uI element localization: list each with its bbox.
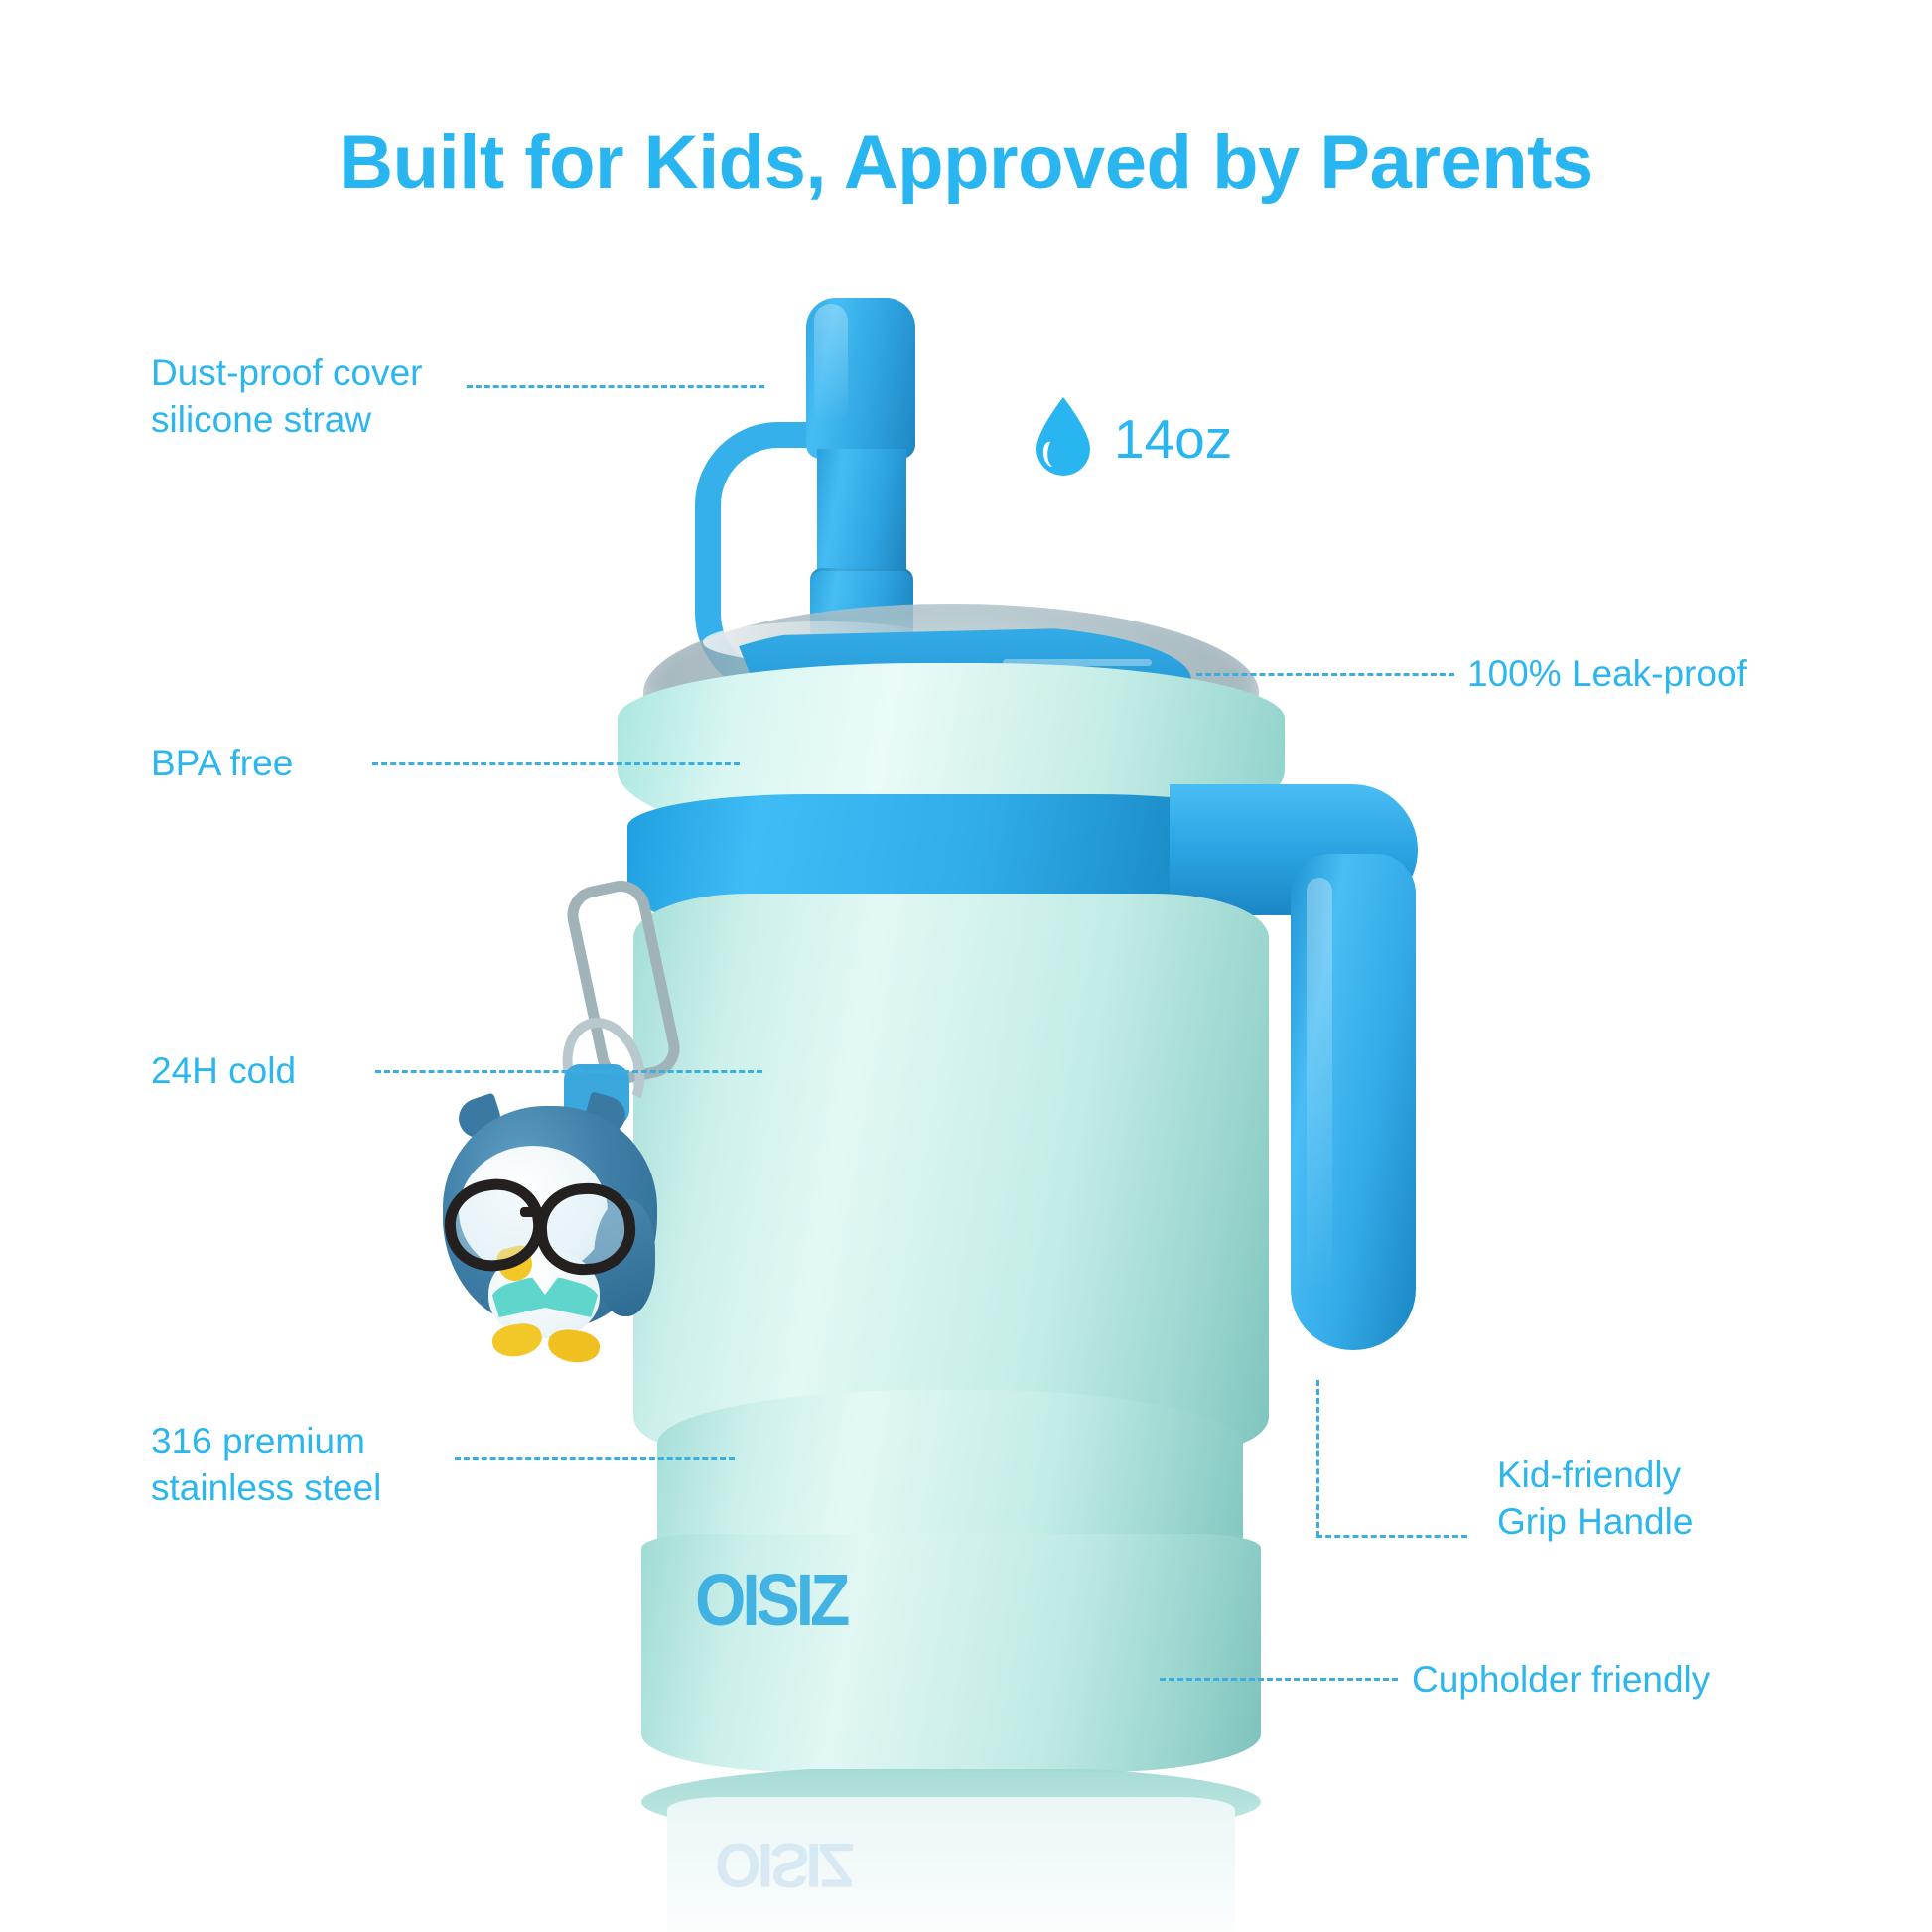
callout-bpa-free-line1: BPA free — [151, 743, 293, 783]
callout-24h-cold-line1: 24H cold — [151, 1050, 296, 1091]
callout-bpa-free: BPA free — [151, 740, 293, 786]
leader-24h-cold — [375, 1070, 762, 1073]
callout-dust-proof-cover-line2: silicone straw — [151, 399, 371, 440]
leader-316-stainless — [455, 1457, 735, 1460]
callout-dust-proof-cover-line1: Dust-proof cover — [151, 352, 423, 393]
callout-24h-cold: 24H cold — [151, 1047, 296, 1094]
infographic-canvas: Built for Kids, Approved by Parents 14oz — [0, 0, 1932, 1932]
callout-316-stainless-line2: stainless steel — [151, 1467, 381, 1508]
tumbler-body — [633, 894, 1269, 1449]
callout-grip-handle: Kid-friendlyGrip Handle — [1497, 1451, 1693, 1546]
leader-dust-proof-cover — [467, 385, 764, 388]
dust-proof-straw-cap — [806, 298, 915, 459]
leader-cupholder — [1160, 1678, 1398, 1681]
owl-foot-right — [546, 1327, 602, 1366]
callout-cupholder-line1: Cupholder friendly — [1412, 1659, 1710, 1700]
product-reflection: OISIZ — [641, 1769, 1261, 1932]
owl-glasses-icon — [445, 1177, 629, 1251]
brand-logo: OISIZ — [695, 1563, 846, 1636]
callout-316-stainless: 316 premiumstainless steel — [151, 1418, 381, 1512]
callout-leak-proof: 100% Leak-proof — [1467, 650, 1747, 697]
callout-dust-proof-cover: Dust-proof coversilicone straw — [151, 349, 423, 444]
leader-leak-proof — [1196, 673, 1454, 676]
callout-grip-handle-line2: Grip Handle — [1497, 1501, 1693, 1542]
callout-316-stainless-line1: 316 premium — [151, 1421, 365, 1461]
straw-shaft — [817, 449, 906, 578]
callout-cupholder: Cupholder friendly — [1412, 1656, 1710, 1703]
leader-bpa-free — [372, 762, 740, 765]
callout-leak-proof-line1: 100% Leak-proof — [1467, 653, 1747, 694]
reflection-logo: OISIZ — [715, 1829, 851, 1900]
owl-charm — [437, 1082, 665, 1360]
handle-grip — [1291, 854, 1416, 1350]
leader-grip-handle-horizontal — [1316, 1535, 1467, 1538]
product-image: OISIZ OISIZ — [0, 0, 1932, 1932]
leader-grip-handle-vertical — [1316, 1380, 1319, 1537]
callout-grip-handle-line1: Kid-friendly — [1497, 1454, 1681, 1495]
owl-foot-left — [490, 1320, 545, 1360]
